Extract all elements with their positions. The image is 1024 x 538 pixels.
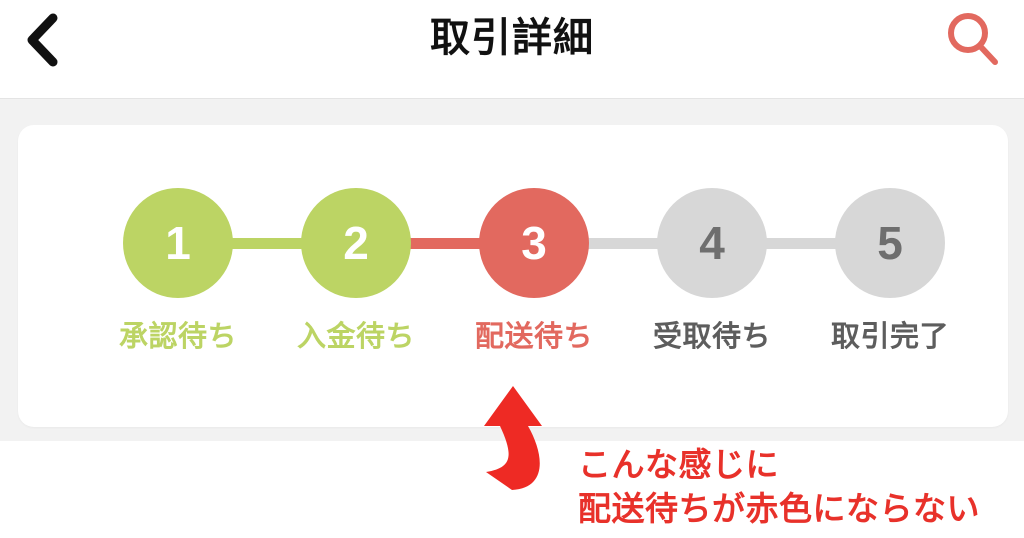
step-circle-5: 5 [835, 188, 945, 298]
step-circle-4: 4 [657, 188, 767, 298]
step-label-4: 受取待ち [623, 313, 801, 355]
search-button[interactable] [936, 3, 1010, 77]
step-label-3: 配送待ち [445, 313, 623, 355]
step-circle-1: 1 [123, 188, 233, 298]
transaction-progress-stepper: 1 承認待ち 2 入金待ち 3 配送待ち 4 受取待ち 5 取引完了 [18, 125, 1008, 427]
step-label-1: 承認待ち [89, 313, 267, 355]
app-header: 取引詳細 [0, 0, 1024, 99]
search-icon [942, 9, 1004, 71]
step-label-5: 取引完了 [801, 313, 979, 355]
step-item-3[interactable]: 3 配送待ち [445, 125, 623, 427]
annotation-note: こんな感じに 配送待ちが赤色にならない [578, 443, 980, 531]
transaction-status-card: 1 承認待ち 2 入金待ち 3 配送待ち 4 受取待ち 5 取引完了 [18, 125, 1008, 427]
step-label-2: 入金待ち [267, 313, 445, 355]
page-title: 取引詳細 [0, 12, 1024, 64]
step-item-5[interactable]: 5 取引完了 [801, 125, 979, 427]
step-circle-2: 2 [301, 188, 411, 298]
step-item-2[interactable]: 2 入金待ち [267, 125, 445, 427]
step-item-4[interactable]: 4 受取待ち [623, 125, 801, 427]
annotation-line-2: 配送待ちが赤色にならない [578, 487, 980, 531]
stepper-steps: 1 承認待ち 2 入金待ち 3 配送待ち 4 受取待ち 5 取引完了 [18, 125, 1008, 427]
annotation-line-1: こんな感じに [578, 443, 980, 487]
step-circle-3: 3 [479, 188, 589, 298]
step-item-1[interactable]: 1 承認待ち [89, 125, 267, 427]
